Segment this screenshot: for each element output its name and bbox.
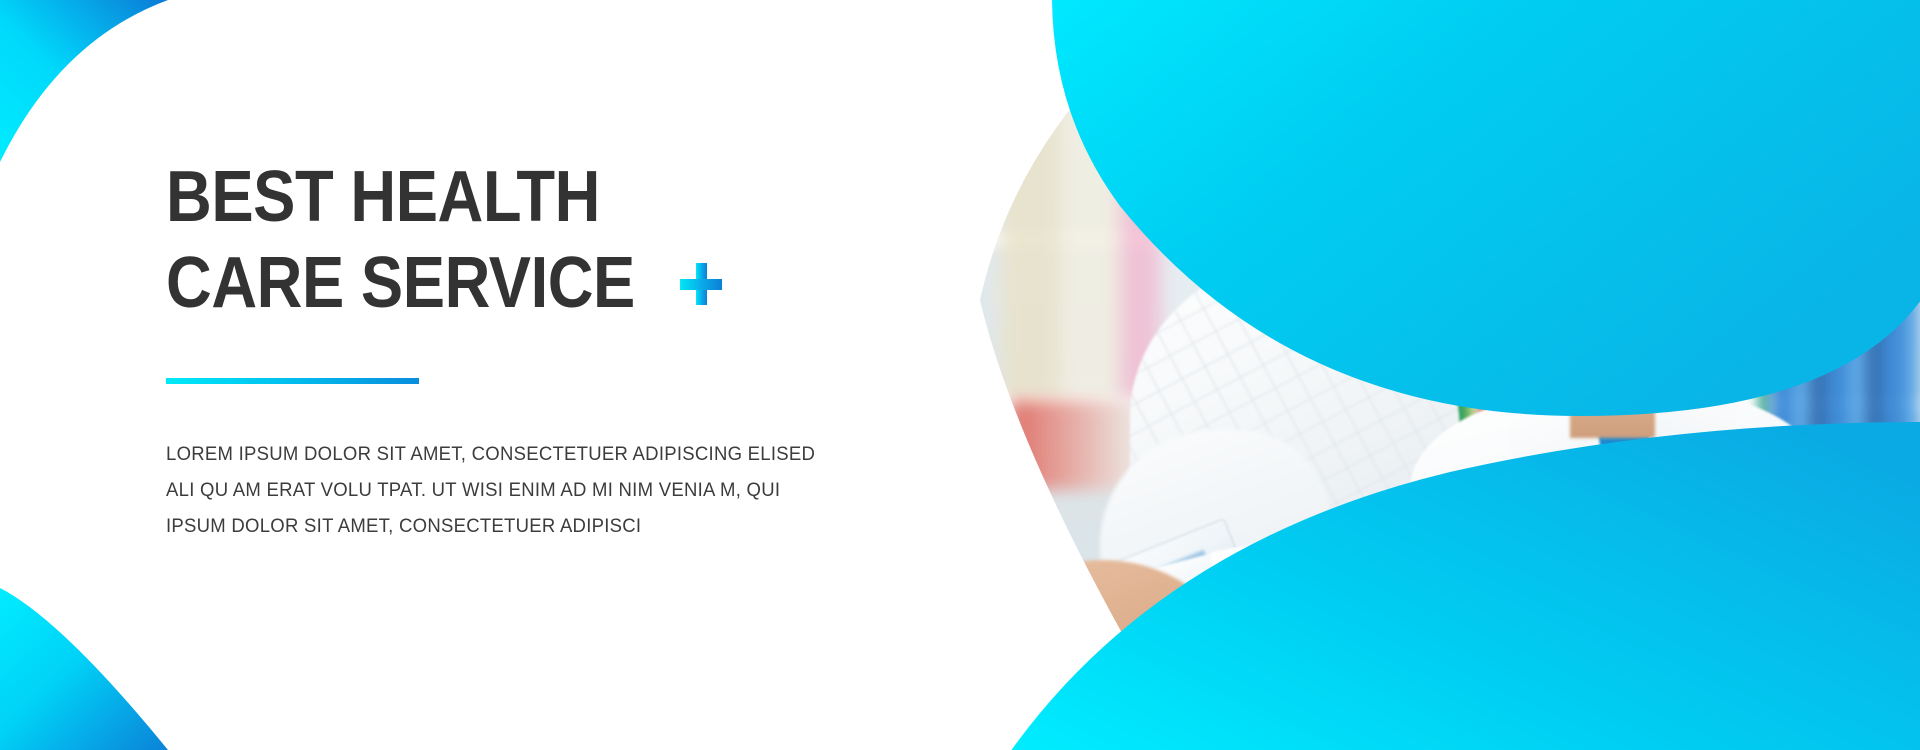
pharmacist-hand <box>1232 585 1362 720</box>
customer-ear <box>1298 182 1318 216</box>
headline-row-1: BEST HEALTH <box>166 155 782 241</box>
body-copy: LOREM IPSUM DOLOR SIT AMET, CONSECTETUER… <box>166 436 831 544</box>
body-line-3: IPSUM DOLOR SIT AMET, CONSECTETUER ADIPI… <box>166 508 831 544</box>
pharmacist-eye-right <box>1626 268 1648 281</box>
banner-content: BEST HEALTH CARE SERVICE LOREM IPSUM DOL… <box>166 155 866 544</box>
photo-inner <box>980 0 1920 750</box>
corner-wedge-bottom-left <box>0 560 200 750</box>
accent-underline-bar <box>166 378 419 384</box>
headline-line-2: CARE SERVICE <box>166 241 635 327</box>
headline-row-2: CARE SERVICE <box>166 241 782 327</box>
pharmacist-hair-bun <box>1640 245 1710 335</box>
medical-plus-icon <box>680 263 722 305</box>
headline-block: BEST HEALTH CARE SERVICE <box>166 155 782 326</box>
pharmacist-eye-left <box>1558 272 1580 285</box>
body-line-2: ALI QU AM ERAT VOLU TPAT. UT WISI ENIM A… <box>166 472 831 508</box>
health-care-banner: BEST HEALTH CARE SERVICE LOREM IPSUM DOL… <box>0 0 1920 750</box>
pharmacist-nose <box>1592 292 1612 326</box>
customer-ring <box>1065 663 1101 693</box>
customer-earring <box>1302 212 1315 234</box>
body-line-1: LOREM IPSUM DOLOR SIT AMET, CONSECTETUER… <box>166 436 831 472</box>
headline-line-1: BEST HEALTH <box>166 155 600 241</box>
pharmacy-photo <box>980 0 1920 750</box>
